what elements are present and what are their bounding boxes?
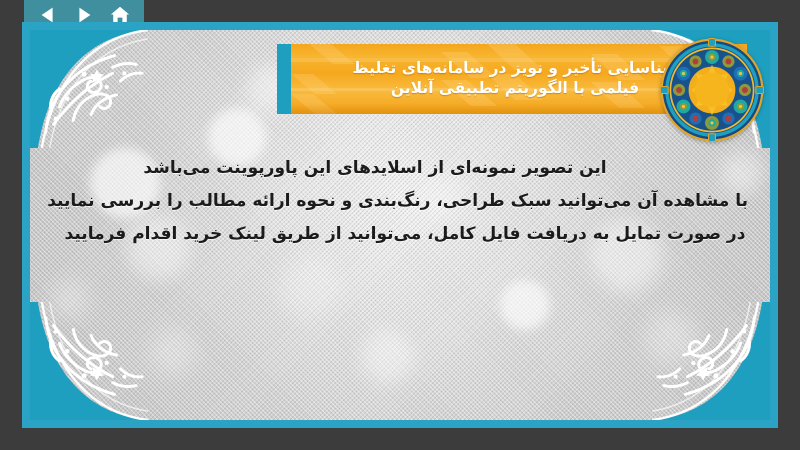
bokeh-circle xyxy=(360,330,414,384)
bokeh-circle xyxy=(278,256,340,318)
bokeh-circle xyxy=(150,330,196,376)
slide-title-line-2: فیلمی با الگوریتم تطبیقی آنلاین xyxy=(391,79,639,99)
slide-body-text: این تصویر نمونه‌ای از اسلایدهای این پاور… xyxy=(62,154,748,254)
body-line-3: در صورت تمایل به دریافت فایل کامل، می‌تو… xyxy=(62,220,748,249)
slide-title-banner: شناسایی تأخیر و نویز در سامانه‌های تغلیظ… xyxy=(277,44,747,114)
bokeh-circle xyxy=(50,280,90,320)
presentation-viewer: شناسایی تأخیر و نویز در سامانه‌های تغلیظ… xyxy=(0,0,800,450)
bokeh-circle xyxy=(642,312,698,368)
slide-title-line-1: شناسایی تأخیر و نویز در سامانه‌های تغلیظ xyxy=(353,59,678,79)
body-line-2: با مشاهده آن می‌توانید سبک طراحی، رنگ‌بن… xyxy=(62,187,748,216)
slide-canvas: شناسایی تأخیر و نویز در سامانه‌های تغلیظ… xyxy=(22,22,778,428)
body-line-1: این تصویر نمونه‌ای از اسلایدهای این پاور… xyxy=(62,154,748,183)
bokeh-circle xyxy=(500,280,550,330)
slide-title: شناسایی تأخیر و نویز در سامانه‌های تغلیظ… xyxy=(277,44,747,114)
